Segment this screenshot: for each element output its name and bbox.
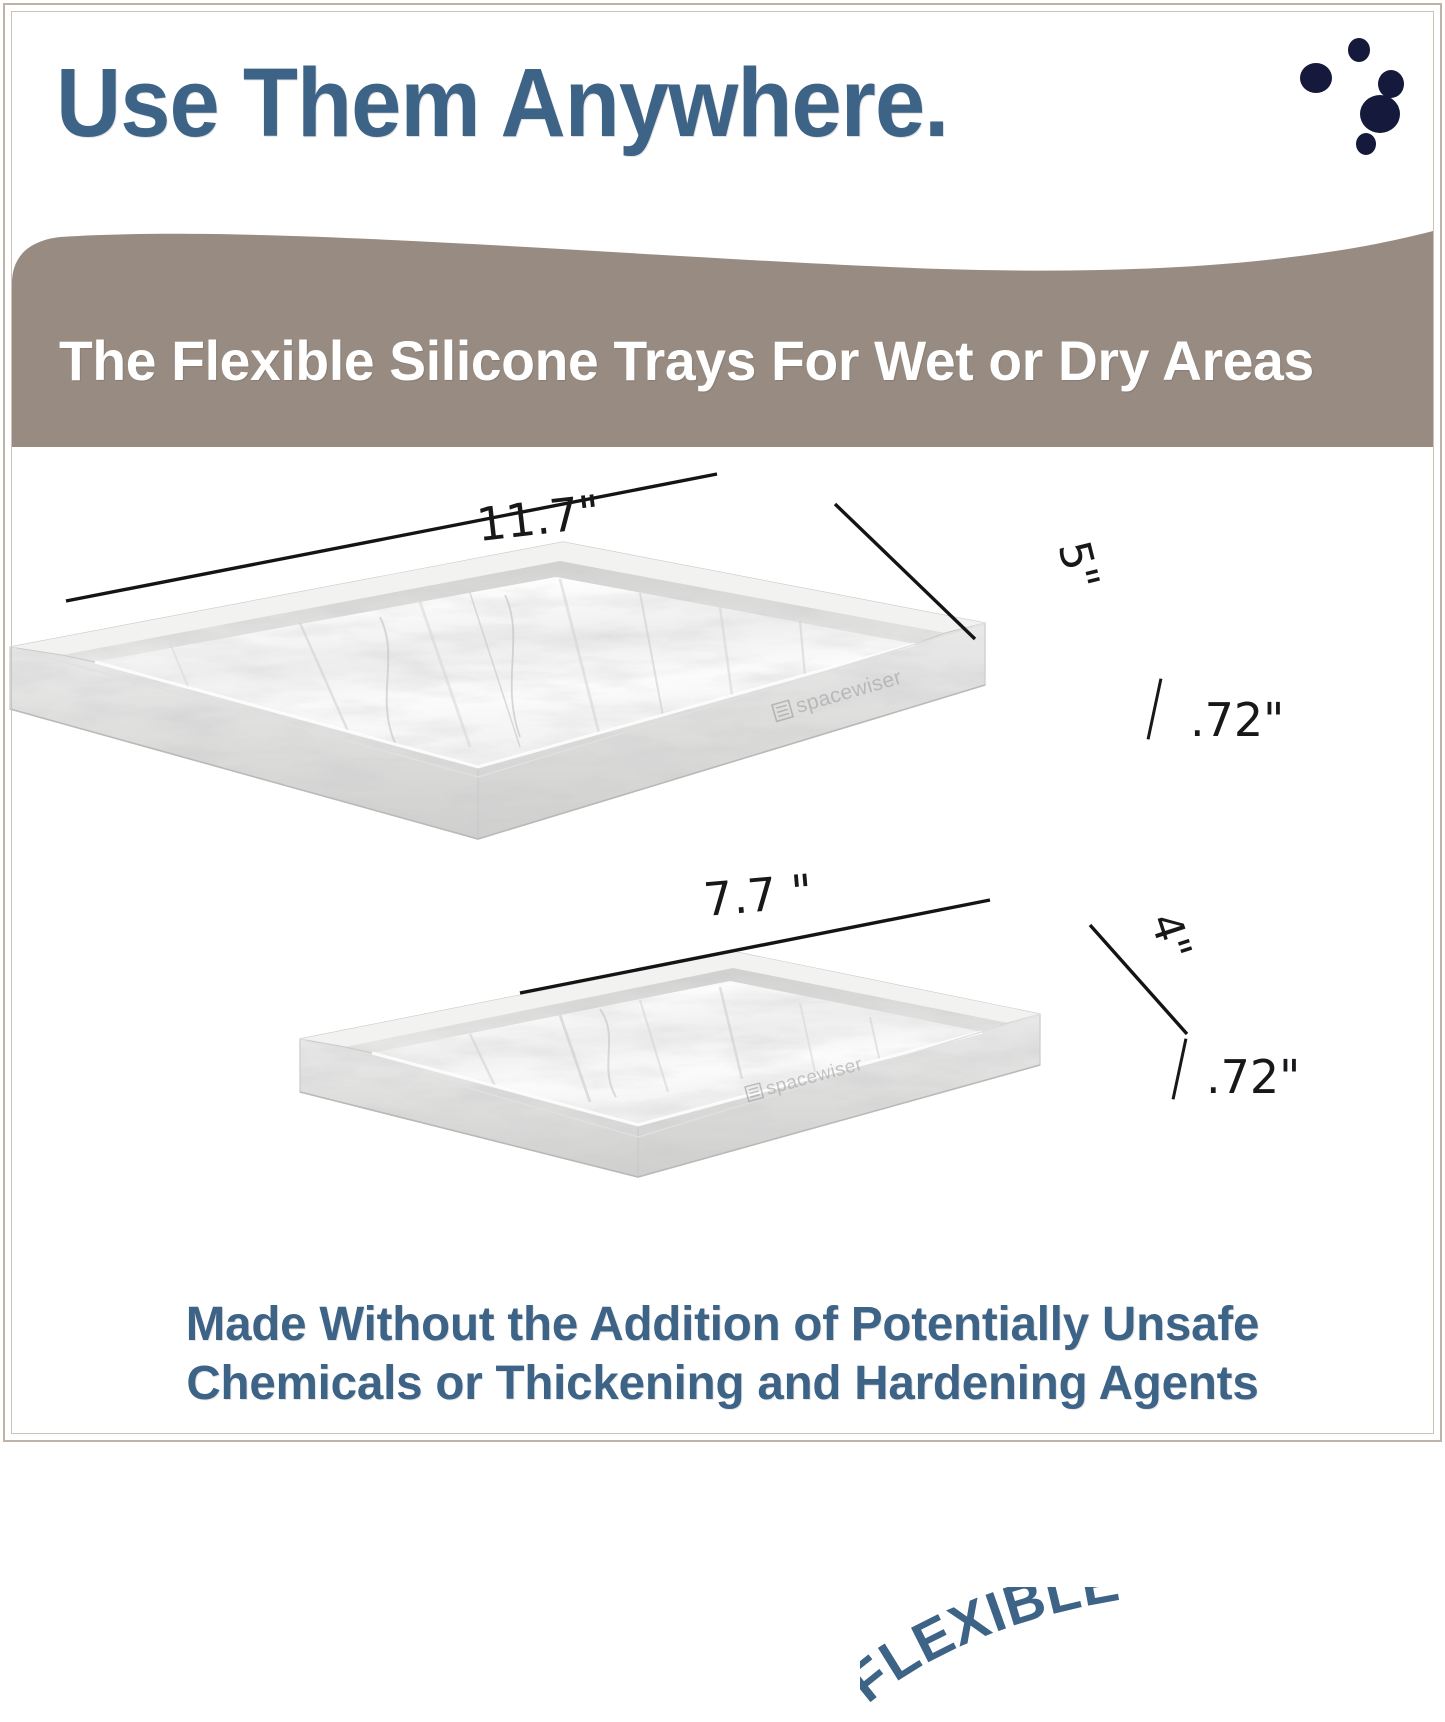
decorative-dot-icon [1300, 63, 1332, 93]
decorative-dot-icon [1356, 133, 1376, 155]
flexible-label: FLEXIBLE [860, 1587, 1124, 1714]
small-tray-height-label: .72" [1206, 1050, 1300, 1104]
footer-line-2: Chemicals or Thickening and Hardening Ag… [7, 1355, 1438, 1414]
subtitle-banner: The Flexible Silicone Trays For Wet or D… [12, 225, 1433, 447]
page-title: Use Them Anywhere. [56, 52, 948, 154]
decorative-dots-group [1300, 28, 1430, 178]
footer-line-1: Made Without the Addition of Potentially… [7, 1296, 1438, 1355]
banner-subtitle: The Flexible Silicone Trays For Wet or D… [59, 328, 1379, 393]
footer-copy: Made Without the Addition of Potentially… [0, 1296, 1445, 1413]
svg-text:FLEXIBLE: FLEXIBLE [860, 1587, 1124, 1714]
small-tray-length-label: 7.7 " [701, 864, 814, 927]
decorative-dot-icon [1378, 70, 1404, 98]
large-tray-graphic: spacewiser [10, 542, 985, 839]
flexible-label-wrap: FLEXIBLE [860, 1587, 1180, 1717]
large-tray-height-label: .72" [1190, 693, 1284, 747]
infographic-page: Use Them Anywhere. The Flexible Silicone… [0, 0, 1445, 1445]
decorative-dot-icon [1348, 38, 1370, 62]
decorative-dot-icon [1360, 95, 1400, 133]
small-tray-graphic: spacewiser [300, 952, 1040, 1177]
